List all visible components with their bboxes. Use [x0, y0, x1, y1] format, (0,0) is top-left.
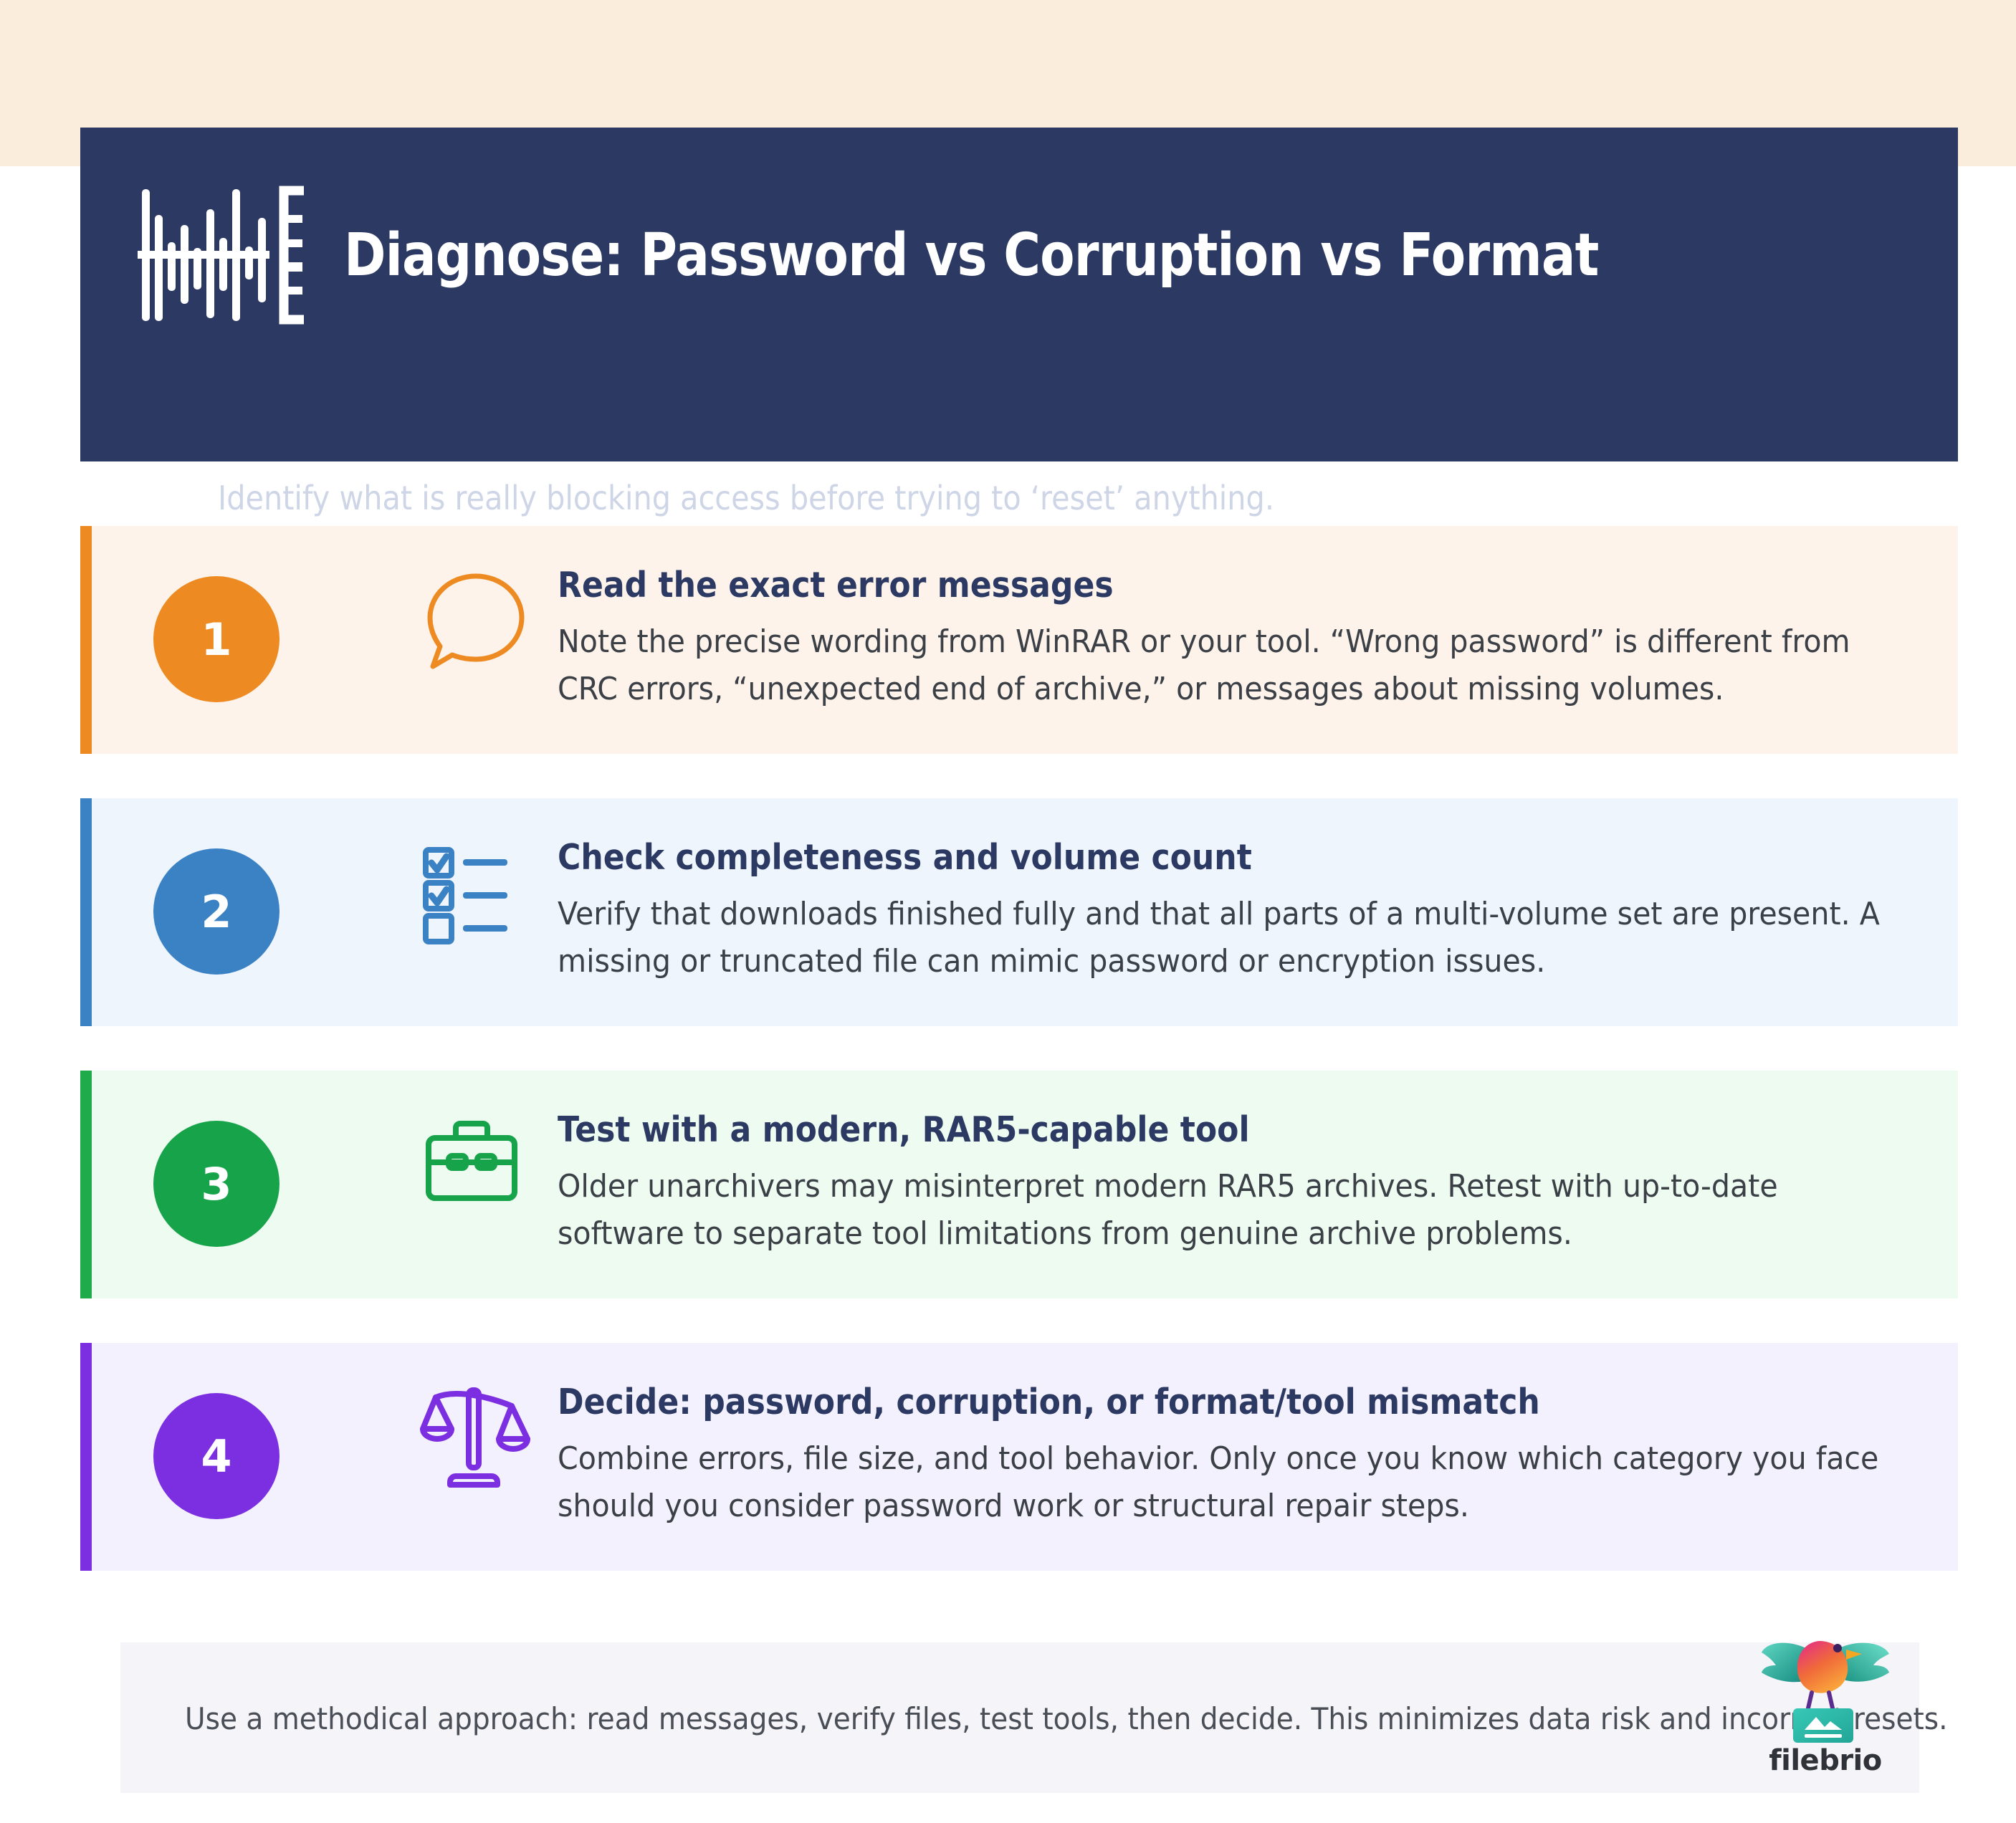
- footer-banner: Use a methodical approach: read messages…: [120, 1642, 1919, 1793]
- step-number-badge: 1: [153, 576, 280, 702]
- filebrio-logo: filebrio: [1757, 1637, 1893, 1791]
- step-text-block: Decide: password, corruption, or format/…: [558, 1383, 1889, 1530]
- step-card-3: 3 Test with a modern, RAR5-capable tool …: [80, 1071, 1958, 1298]
- filebrio-bird-logo: [1757, 1637, 1893, 1751]
- checklist-icon: [419, 840, 533, 947]
- header-subtitle: Identify what is really blocking access …: [218, 479, 1274, 517]
- step-title: Check completeness and volume count: [558, 838, 1756, 878]
- page-title: Diagnose: Password vs Corruption vs Form…: [344, 221, 1598, 290]
- step-body: Combine errors, file size, and tool beha…: [558, 1435, 1890, 1530]
- step-accent-bar: [80, 1343, 92, 1571]
- briefcase-icon: [419, 1112, 533, 1220]
- balance-scales-icon: [419, 1384, 533, 1492]
- step-text-block: Read the exact error messages Note the p…: [558, 566, 1889, 713]
- step-accent-bar: [80, 1071, 92, 1298]
- step-text-block: Test with a modern, RAR5-capable tool Ol…: [558, 1111, 1889, 1258]
- step-title: Decide: password, corruption, or format/…: [558, 1383, 1756, 1422]
- barcode-ruler-icon: [138, 183, 310, 327]
- step-card-4: 4 Decide: password, corruption, or forma…: [80, 1343, 1958, 1571]
- step-body: Older unarchivers may misinterpret moder…: [558, 1163, 1890, 1258]
- footer-summary-text: Use a methodical approach: read messages…: [185, 1698, 1948, 1741]
- step-accent-bar: [80, 798, 92, 1026]
- header-title-row: Diagnose: Password vs Corruption vs Form…: [138, 183, 1802, 327]
- step-number-badge: 4: [153, 1393, 280, 1519]
- header-banner: Diagnose: Password vs Corruption vs Form…: [80, 128, 1958, 461]
- step-title: Read the exact error messages: [558, 566, 1756, 606]
- speech-bubble-icon: [419, 568, 533, 675]
- step-text-block: Check completeness and volume count Veri…: [558, 838, 1889, 985]
- step-card-2: 2 Check completeness and volume count Ve…: [80, 798, 1958, 1026]
- logo-wordmark: filebrio: [1757, 1744, 1893, 1777]
- step-accent-bar: [80, 526, 92, 754]
- step-body: Note the precise wording from WinRAR or …: [558, 618, 1890, 713]
- step-number-badge: 2: [153, 848, 280, 975]
- step-number-badge: 3: [153, 1121, 280, 1247]
- infographic-page: Diagnose: Password vs Corruption vs Form…: [0, 0, 2016, 1823]
- step-title: Test with a modern, RAR5-capable tool: [558, 1111, 1756, 1150]
- step-body: Verify that downloads finished fully and…: [558, 891, 1890, 985]
- step-card-1: 1 Read the exact error messages Note the…: [80, 526, 1958, 754]
